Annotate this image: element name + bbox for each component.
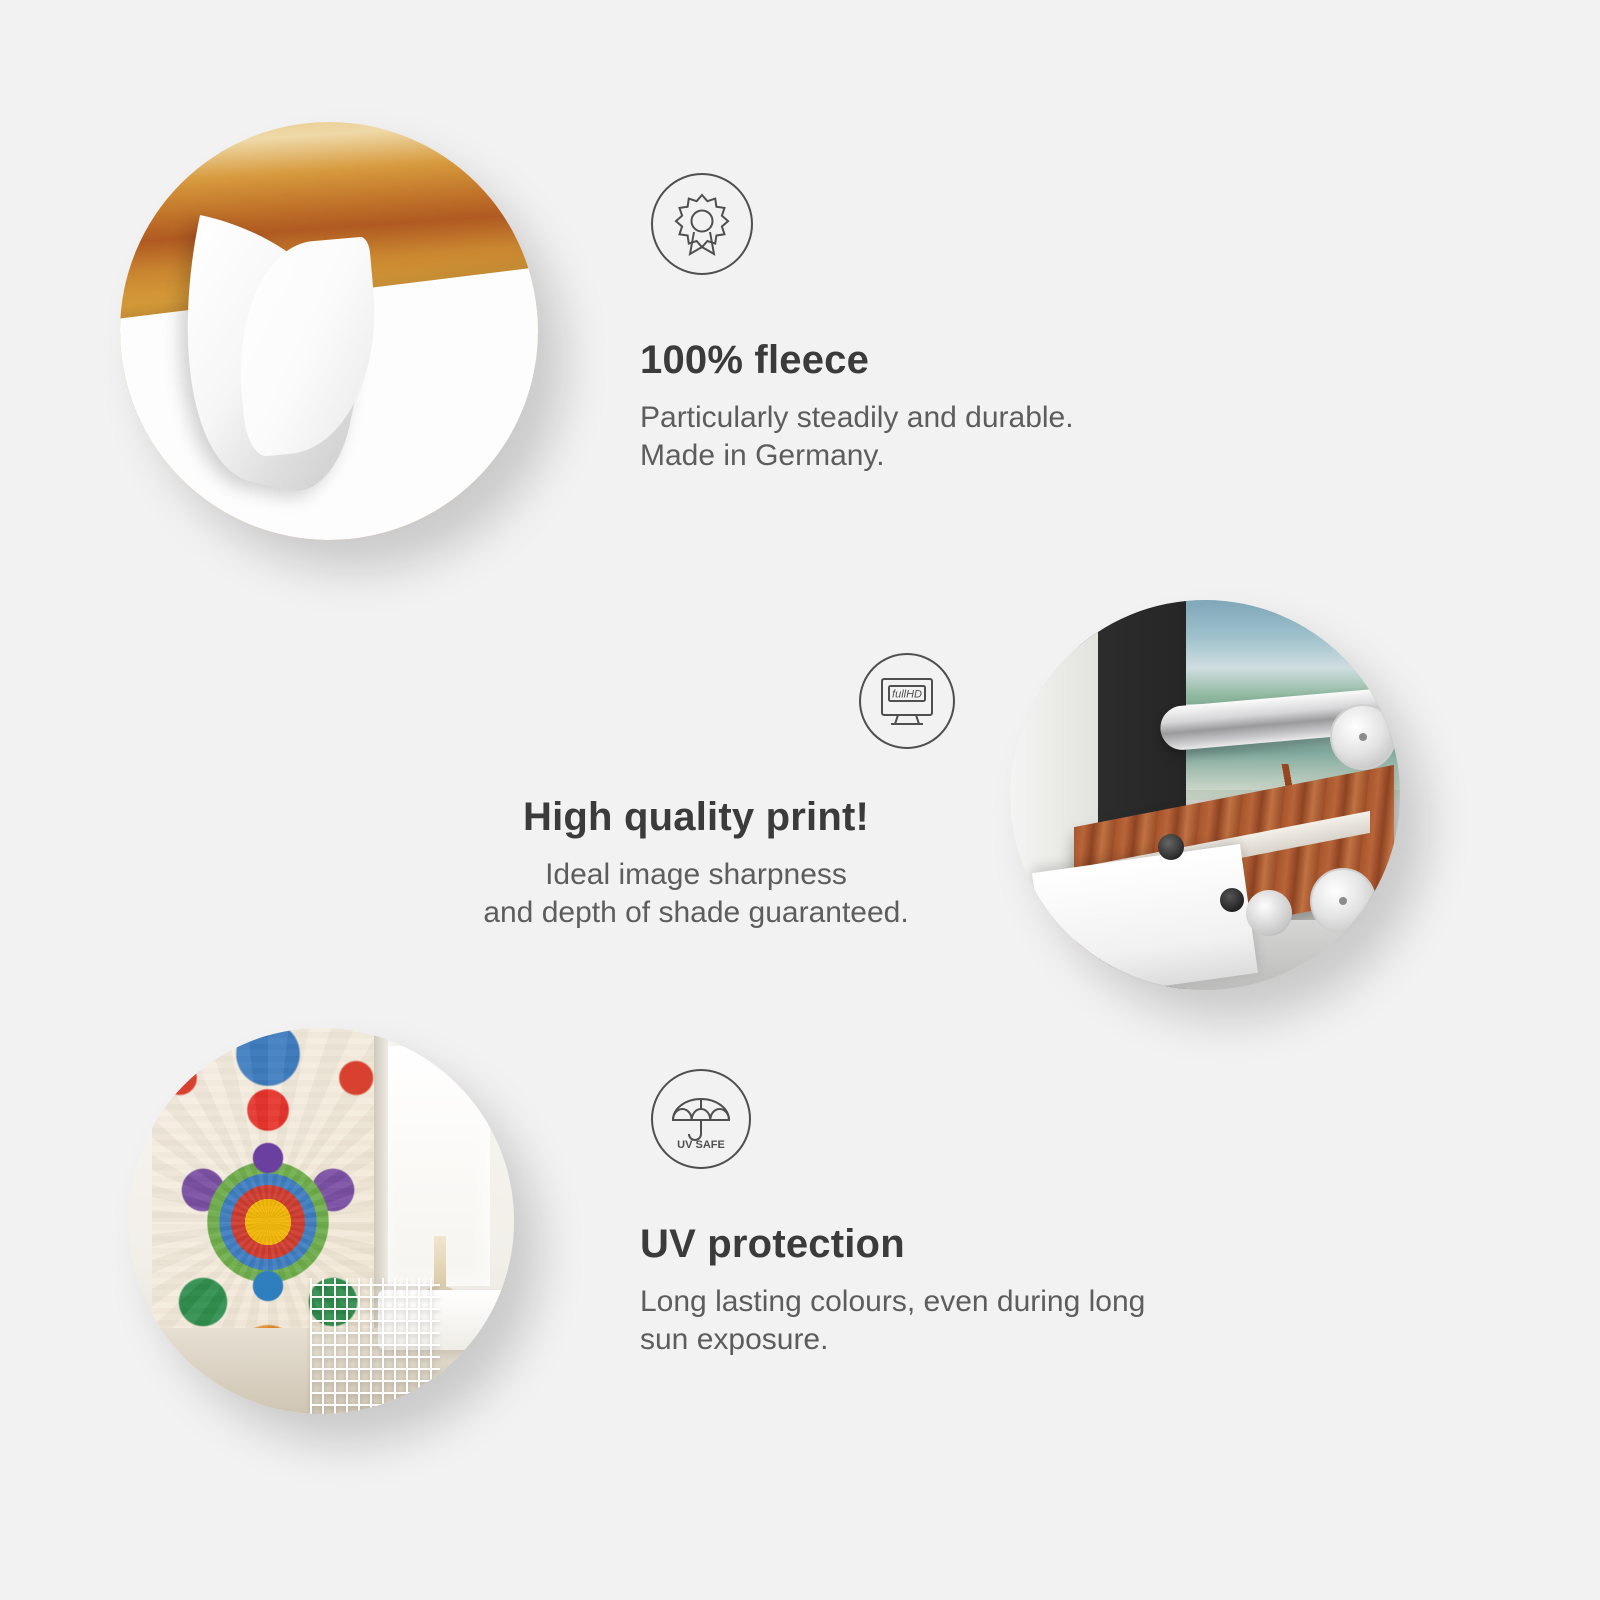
printer-photo — [1010, 600, 1400, 990]
feature-description-print: Ideal image sharpness and depth of shade… — [420, 856, 972, 933]
printer-knob-lower — [1220, 888, 1244, 912]
uv-room-photo — [128, 1028, 514, 1414]
feature-text-print: High quality print! Ideal image sharpnes… — [420, 795, 972, 933]
feature-text-uv: UV protection Long lasting colours, even… — [640, 1222, 1145, 1360]
printer-knob-upper — [1158, 834, 1184, 860]
svg-text:UV SAFE: UV SAFE — [677, 1139, 725, 1151]
uv-safe-umbrella-icon: UV SAFE — [650, 1068, 752, 1170]
printer-roller-end-top — [1330, 704, 1396, 770]
feature-description-fleece: Particularly steadily and durable. Made … — [640, 399, 1074, 476]
fullhd-monitor-icon: fullHD — [858, 652, 956, 750]
svg-text:fullHD: fullHD — [892, 689, 922, 701]
printer-wheel — [1246, 890, 1292, 936]
feature-text-fleece: 100% fleece Particularly steadily and du… — [640, 338, 1074, 476]
feature-title-fleece: 100% fleece — [640, 338, 1074, 383]
award-ribbon-icon — [650, 172, 754, 276]
printer-roller-end-bottom — [1310, 868, 1376, 934]
feature-title-print: High quality print! — [420, 795, 972, 840]
feature-title-uv: UV protection — [640, 1222, 1145, 1267]
feature-highlights-page: 100% fleece Particularly steadily and du… — [0, 0, 1600, 1600]
fleece-photo — [120, 122, 538, 540]
uv-room-wire-chair — [310, 1278, 440, 1414]
feature-description-uv: Long lasting colours, even during long s… — [640, 1283, 1145, 1360]
